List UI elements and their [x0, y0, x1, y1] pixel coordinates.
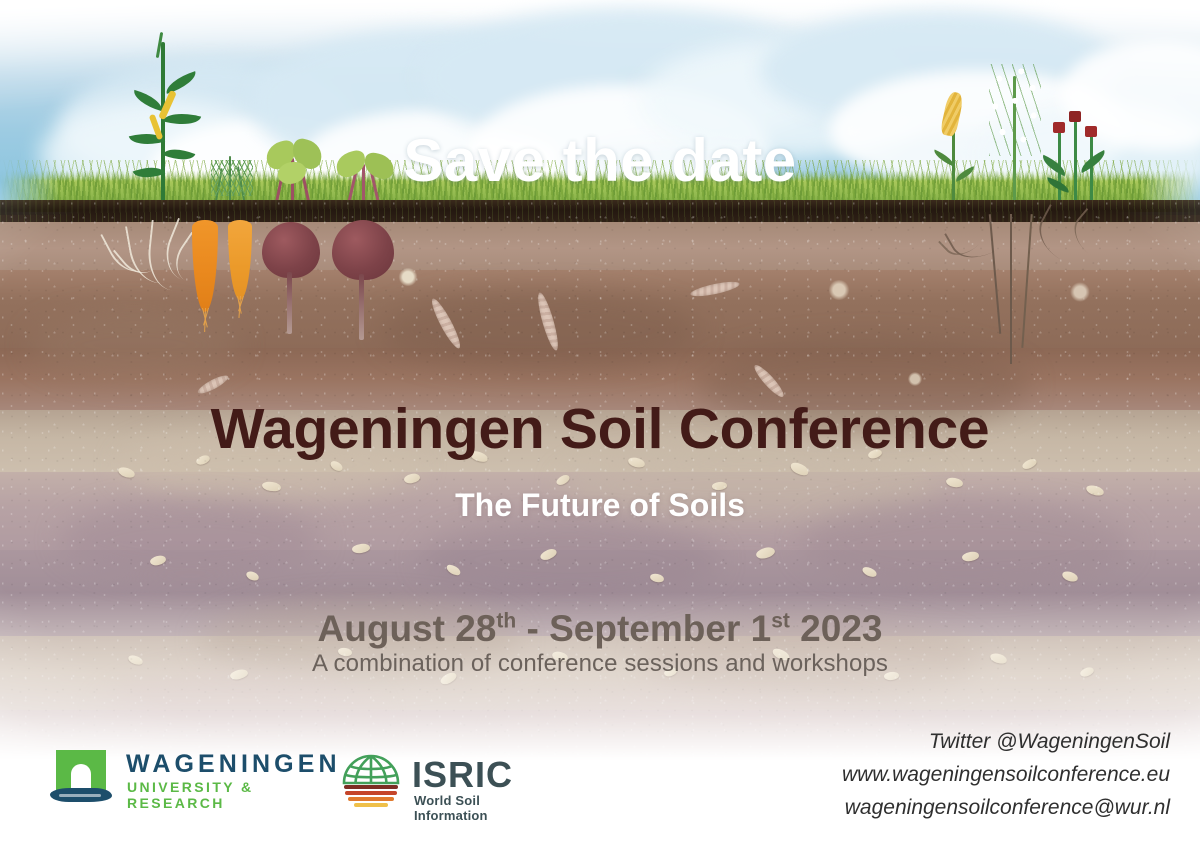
- wur-mark-icon: [50, 750, 112, 794]
- date-start-day: 28: [455, 608, 496, 649]
- conference-tagline: A combination of conference sessions and…: [0, 650, 1200, 678]
- soil-fauna-2: [828, 280, 850, 300]
- carrot-2: [228, 220, 252, 316]
- carrot-1: [192, 220, 218, 328]
- isric-globe-icon: [340, 752, 402, 814]
- beetroot-2: [332, 220, 394, 340]
- wur-logo-name: WAGENINGEN: [126, 750, 341, 779]
- wageningen-university-research-logo[interactable]: WAGENINGEN UNIVERSITY & RESEARCH: [50, 750, 325, 812]
- contact-twitter[interactable]: Twitter @WageningenSoil: [929, 730, 1170, 754]
- date-end-month: September: [549, 608, 740, 649]
- date-end-suffix: st: [771, 610, 790, 633]
- poster-canvas: Save the date Wageningen Soil Conference…: [0, 0, 1200, 848]
- date-start-suffix: th: [496, 610, 516, 633]
- soil-fauna-3: [1070, 282, 1090, 302]
- isric-logo-tagline: World Soil Information: [414, 793, 545, 823]
- beetroot-1: [262, 222, 320, 334]
- date-start-month: August: [318, 608, 445, 649]
- wur-logo-tagline: UNIVERSITY & RESEARCH: [127, 779, 325, 811]
- isric-logo-name: ISRIC: [412, 754, 513, 796]
- conference-dates: August 28th - September 1st 2023: [0, 608, 1200, 650]
- contact-email[interactable]: wageningensoilconference@wur.nl: [845, 796, 1170, 820]
- conference-title: Wageningen Soil Conference: [0, 396, 1200, 462]
- isric-logo[interactable]: ISRIC World Soil Information: [340, 752, 545, 814]
- date-end-day: 1: [751, 608, 772, 649]
- conference-subtitle: The Future of Soils: [0, 487, 1200, 524]
- soil-fauna-4: [908, 372, 922, 386]
- save-the-date-heading: Save the date: [0, 126, 1200, 195]
- contact-website[interactable]: www.wageningensoilconference.eu: [842, 763, 1170, 787]
- tree-root-system: [940, 214, 1130, 374]
- soil-fauna-1: [398, 268, 418, 286]
- date-separator: -: [516, 608, 549, 649]
- date-year: 2023: [800, 608, 882, 649]
